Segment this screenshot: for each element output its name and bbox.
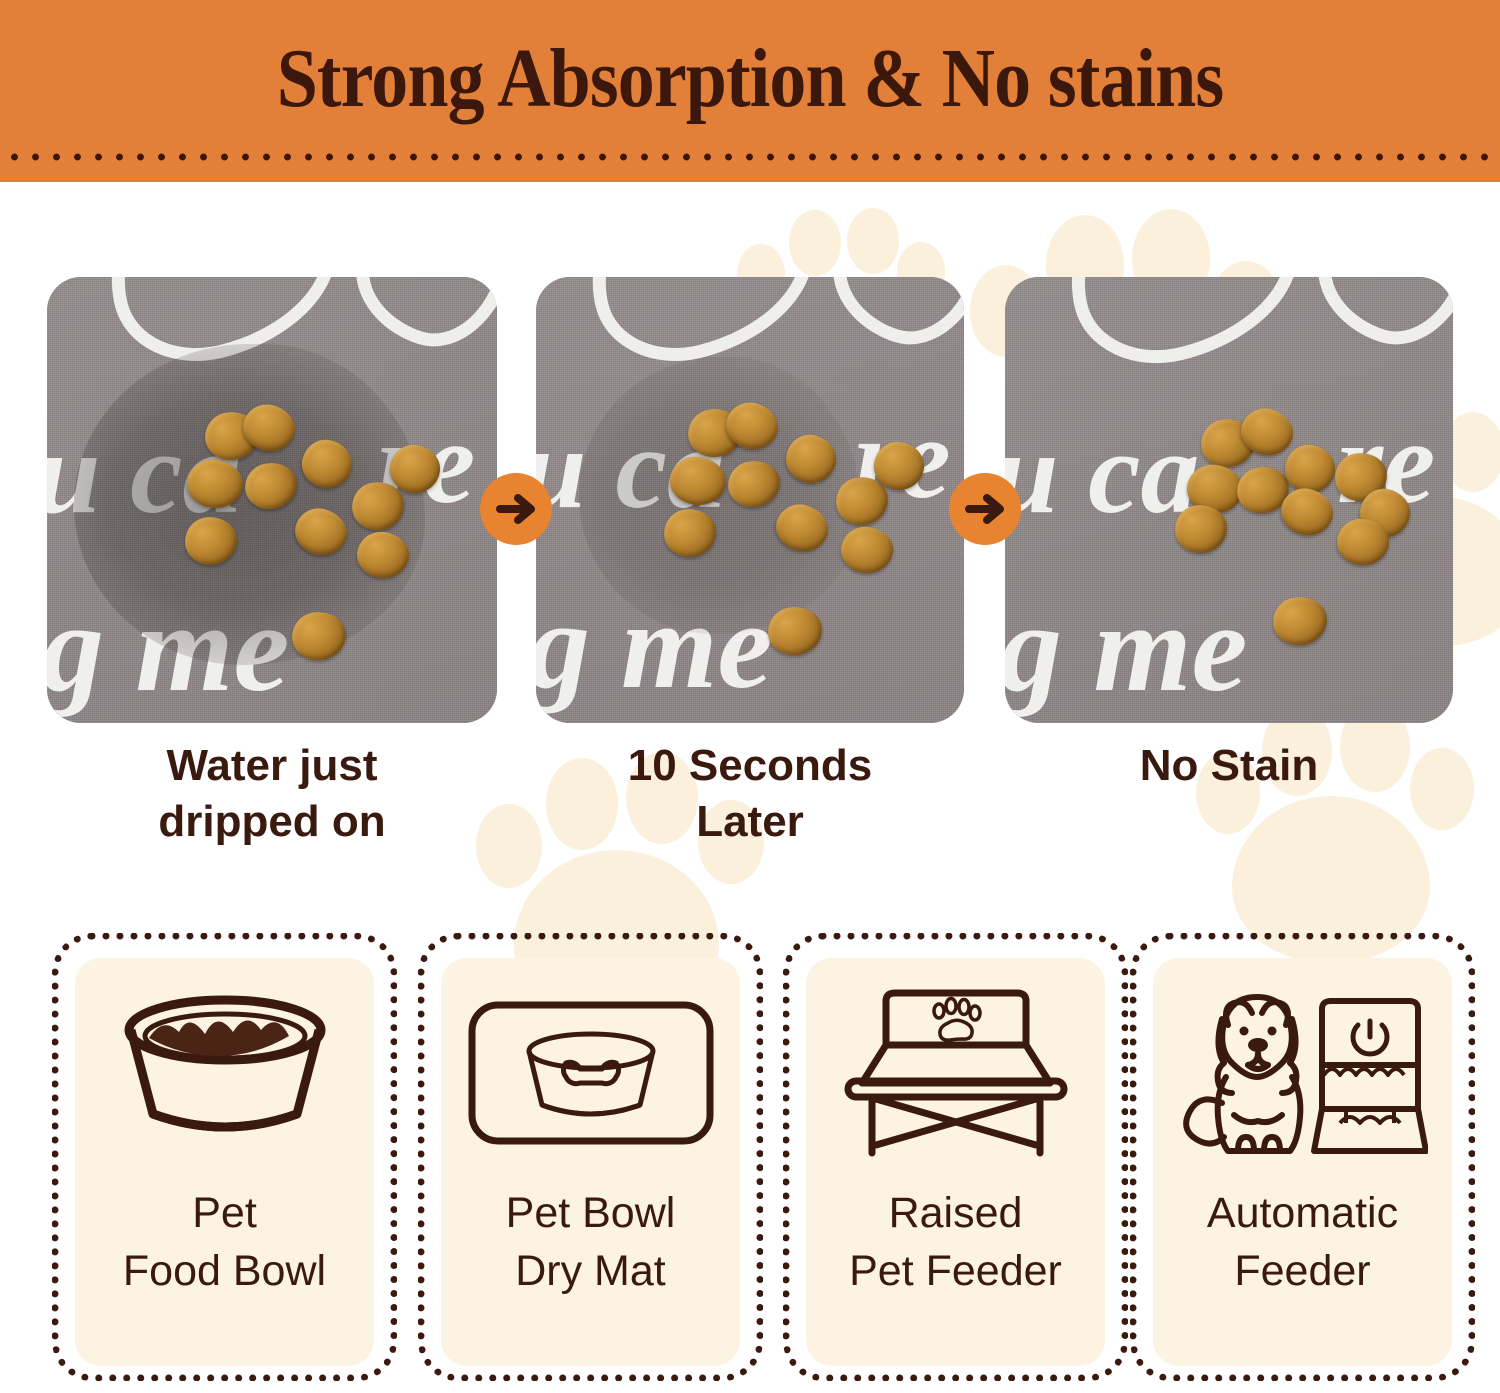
- demo-caption-step-3: No Stain: [1005, 738, 1453, 794]
- arrow-right-icon: [949, 473, 1021, 545]
- demo-photo-step-3: u ca re g me: [1005, 277, 1453, 723]
- feature-card-label: Pet Bowl Dry Mat: [506, 1184, 676, 1300]
- feature-card-inner: Pet Food Bowl: [75, 958, 374, 1366]
- demo-photo-step-1: u ca re g me: [47, 277, 497, 723]
- absorption-demo-photos: u ca re g me u ca re: [0, 277, 1500, 723]
- pet-bowl-dry-mat-icon: [441, 968, 740, 1178]
- demo-caption-step-1: Water just dripped on: [47, 738, 497, 850]
- feature-card-raised-pet-feeder[interactable]: Raised Pet Feeder: [783, 933, 1128, 1381]
- feature-card-inner: Automatic Feeder: [1153, 958, 1452, 1366]
- feature-card-label: Pet Food Bowl: [123, 1184, 326, 1300]
- header-dotted-divider: [0, 150, 1500, 164]
- feature-card-inner: Pet Bowl Dry Mat: [441, 958, 740, 1366]
- demo-caption-step-2: 10 Seconds Later: [536, 738, 964, 850]
- demo-photo-step-2: u ca re g me: [536, 277, 964, 723]
- feature-card-label: Automatic Feeder: [1207, 1184, 1398, 1300]
- header-banner: Strong Absorption & No stains: [0, 0, 1500, 182]
- feature-card-pet-bowl-dry-mat[interactable]: Pet Bowl Dry Mat: [418, 933, 763, 1381]
- arrow-right-icon: [480, 473, 552, 545]
- infographic-page: Strong Absorption & No stains u ca re g …: [0, 0, 1500, 1393]
- feature-card-pet-food-bowl[interactable]: Pet Food Bowl: [52, 933, 397, 1381]
- feature-card-automatic-feeder[interactable]: Automatic Feeder: [1130, 933, 1475, 1381]
- raised-pet-feeder-icon: [806, 968, 1105, 1178]
- compatible-products-grid: Pet Food Bowl Pet Bowl Dry Mat: [0, 933, 1500, 1383]
- page-title: Strong Absorption & No stains: [90, 20, 1410, 138]
- feature-card-inner: Raised Pet Feeder: [806, 958, 1105, 1366]
- pet-food-bowl-icon: [75, 968, 374, 1178]
- feature-card-label: Raised Pet Feeder: [849, 1184, 1062, 1300]
- automatic-feeder-icon: [1153, 968, 1452, 1178]
